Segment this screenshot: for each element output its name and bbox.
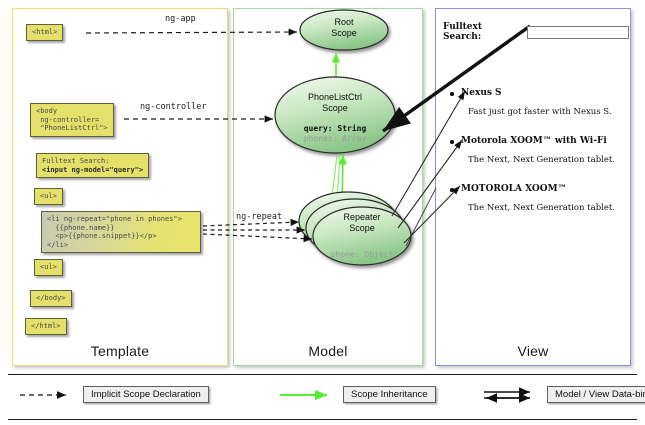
code-box-html-open: <html> xyxy=(26,24,63,41)
legend: Implicit Scope Declaration Scope Inherit… xyxy=(12,382,633,412)
legend-separator-bottom xyxy=(8,419,637,420)
phone-list-item[interactable]: Motorola XOOM™ with Wi-Fi The Next, Next… xyxy=(461,136,629,165)
phone-name: Nexus S xyxy=(461,88,629,98)
column-label-view: View xyxy=(436,343,630,359)
code-box-search: Fulltext Search: <input ng-model="query"… xyxy=(36,153,149,178)
phone-list-item[interactable]: Nexus S Fast just got faster with Nexus … xyxy=(461,88,629,117)
legend-item-data-binding: Model / View Data-binding xyxy=(484,386,645,403)
legend-label-implicit-scope: Implicit Scope Declaration xyxy=(83,386,209,403)
fulltext-search-row: Fulltext Search: xyxy=(443,22,629,42)
column-label-model: Model xyxy=(234,343,422,359)
phone-name: Motorola XOOM™ with Wi-Fi xyxy=(461,136,629,146)
label-ng-controller: ng-controller xyxy=(140,102,207,112)
legend-label-scope-inheritance: Scope Inheritance xyxy=(343,386,436,403)
phone-name: MOTOROLA XOOM™ xyxy=(461,184,629,194)
code-box-search-label: Fulltext Search: xyxy=(42,157,109,165)
view-pane: Fulltext Search: Nexus S Fast just got f… xyxy=(437,10,629,340)
column-label-template: Template xyxy=(13,343,227,359)
phone-list-item[interactable]: MOTOROLA XOOM™ The Next, Next Generation… xyxy=(461,184,629,213)
column-model: Model xyxy=(233,8,423,366)
double-arrow-icon xyxy=(484,387,540,403)
diagram-canvas: Template Model View xyxy=(0,0,645,425)
legend-item-implicit-scope: Implicit Scope Declaration xyxy=(20,386,209,403)
label-ng-repeat: ng-repeat xyxy=(236,212,282,222)
legend-separator-top xyxy=(8,374,637,375)
code-box-li-repeat: <li ng-repeat="phone in phones"> {{phone… xyxy=(41,211,201,253)
phone-snippet: The Next, Next Generation tablet. xyxy=(468,203,629,213)
code-box-ul-close: <ul> xyxy=(34,259,63,276)
fulltext-search-input[interactable] xyxy=(527,26,629,39)
fulltext-search-label: Fulltext Search: xyxy=(443,22,522,42)
code-box-html-close: </html> xyxy=(25,318,67,335)
green-arrow-icon xyxy=(280,389,336,401)
code-box-body-open: <body ng-controller= "PhoneListCtrl"> xyxy=(30,103,114,137)
column-template: Template xyxy=(12,8,228,366)
dashed-arrow-icon xyxy=(20,389,76,401)
code-box-body-close: </body> xyxy=(30,290,72,307)
phone-snippet: The Next, Next Generation tablet. xyxy=(468,155,629,165)
code-box-ul-open: <ul> xyxy=(34,188,63,205)
legend-item-scope-inheritance: Scope Inheritance xyxy=(280,386,436,403)
legend-label-data-binding: Model / View Data-binding xyxy=(547,386,645,403)
phone-snippet: Fast just got faster with Nexus S. xyxy=(468,107,629,117)
label-ng-app: ng-app xyxy=(165,14,196,24)
code-box-search-input-tag: <input ng-model="query"> xyxy=(42,166,143,174)
